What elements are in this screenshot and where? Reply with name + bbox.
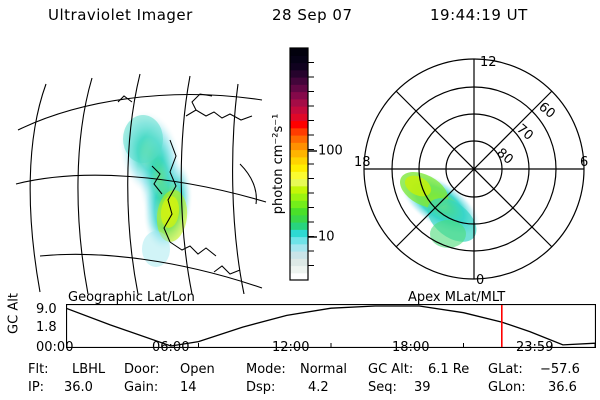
status-key-door: Door: [124, 362, 159, 377]
status-key-dsp: Dsp: [246, 380, 275, 395]
status-key-gain: Gain: [124, 380, 158, 395]
status-value-mode: Normal [300, 362, 347, 377]
strip-xtick-1: 06:00 [152, 340, 189, 355]
geo-panel-caption: Geographic Lat/Lon [68, 290, 195, 305]
observation-date: 28 Sep 07 [272, 6, 352, 24]
orbit-altitude-strip[interactable]: Geographic Lat/Lon Apex MLat/MLT GC Alt … [0, 292, 600, 358]
page-title: Ultraviolet Imager [48, 6, 193, 24]
status-key-ip: IP: [28, 380, 44, 395]
colorbar-minor-ticks [308, 63, 314, 266]
status-row-1: Flt: LBHL Door: Open Mode: Normal GC Alt… [0, 362, 600, 379]
mlt-spokes [364, 59, 584, 279]
geographic-projection-svg [0, 44, 268, 294]
colorbar-axis-label: photon cm⁻²s⁻¹ [271, 114, 286, 215]
status-key-gcalt: GC Alt: [368, 362, 413, 377]
colorbar-svg: 100 10 photon cm⁻²s⁻¹ [268, 44, 348, 294]
mlt-label-12: 12 [480, 55, 497, 70]
status-row-2: IP: 36.0 Gain: 14 Dsp: 4.2 Seq: 39 GLon:… [0, 380, 600, 397]
status-value-seq: 39 [414, 380, 431, 395]
strip-ytick-high: 9.0 [36, 302, 57, 317]
colorbar-gradient [290, 48, 308, 281]
strip-xtick-0: 00:00 [36, 340, 73, 355]
observation-time: 19:44:19 UT [430, 6, 528, 24]
status-value-dsp: 4.2 [308, 380, 329, 395]
status-key-glon: GLon: [488, 380, 526, 395]
strip-ytick-low: 1.8 [36, 320, 57, 335]
uvi-display: Ultraviolet Imager 28 Sep 07 19:44:19 UT [0, 0, 600, 400]
status-value-glat: −57.6 [540, 362, 580, 377]
status-key-seq: Seq: [368, 380, 397, 395]
status-value-flt: LBHL [72, 362, 105, 377]
mlt-panel-caption: Apex MLat/MLT [408, 290, 505, 305]
mlt-label-6: 6 [580, 155, 588, 170]
status-value-gain: 14 [180, 380, 197, 395]
status-panel: Flt: LBHL Door: Open Mode: Normal GC Alt… [0, 360, 600, 400]
mlt-polar-panel[interactable]: 12 18 6 0 60 70 80 [348, 44, 600, 294]
colorbar-tick-100: 100 [318, 144, 343, 159]
status-value-glon: 36.6 [548, 380, 577, 395]
status-value-door: Open [180, 362, 215, 377]
colorbar-tick-10: 10 [318, 230, 335, 245]
status-key-glat: GLat: [488, 362, 523, 377]
strip-xtick-4: 23:59 [516, 340, 553, 355]
mlt-label-18: 18 [354, 155, 371, 170]
status-value-ip: 36.0 [64, 380, 93, 395]
header: Ultraviolet Imager 28 Sep 07 19:44:19 UT [0, 6, 600, 32]
status-key-mode: Mode: [246, 362, 286, 377]
colorbar-panel[interactable]: 100 10 photon cm⁻²s⁻¹ [268, 44, 348, 294]
status-key-flt: Flt: [28, 362, 49, 377]
mlt-polar-svg: 12 18 6 0 60 70 80 [348, 44, 600, 294]
strip-y-axis-label: GC Alt [7, 286, 22, 342]
mlt-label-0: 0 [476, 273, 484, 288]
status-value-gcalt: 6.1 Re [428, 362, 469, 377]
geo-content [0, 44, 268, 294]
geographic-panel[interactable] [0, 44, 268, 294]
strip-xtick-3: 18:00 [392, 340, 429, 355]
strip-xtick-2: 12:00 [272, 340, 309, 355]
